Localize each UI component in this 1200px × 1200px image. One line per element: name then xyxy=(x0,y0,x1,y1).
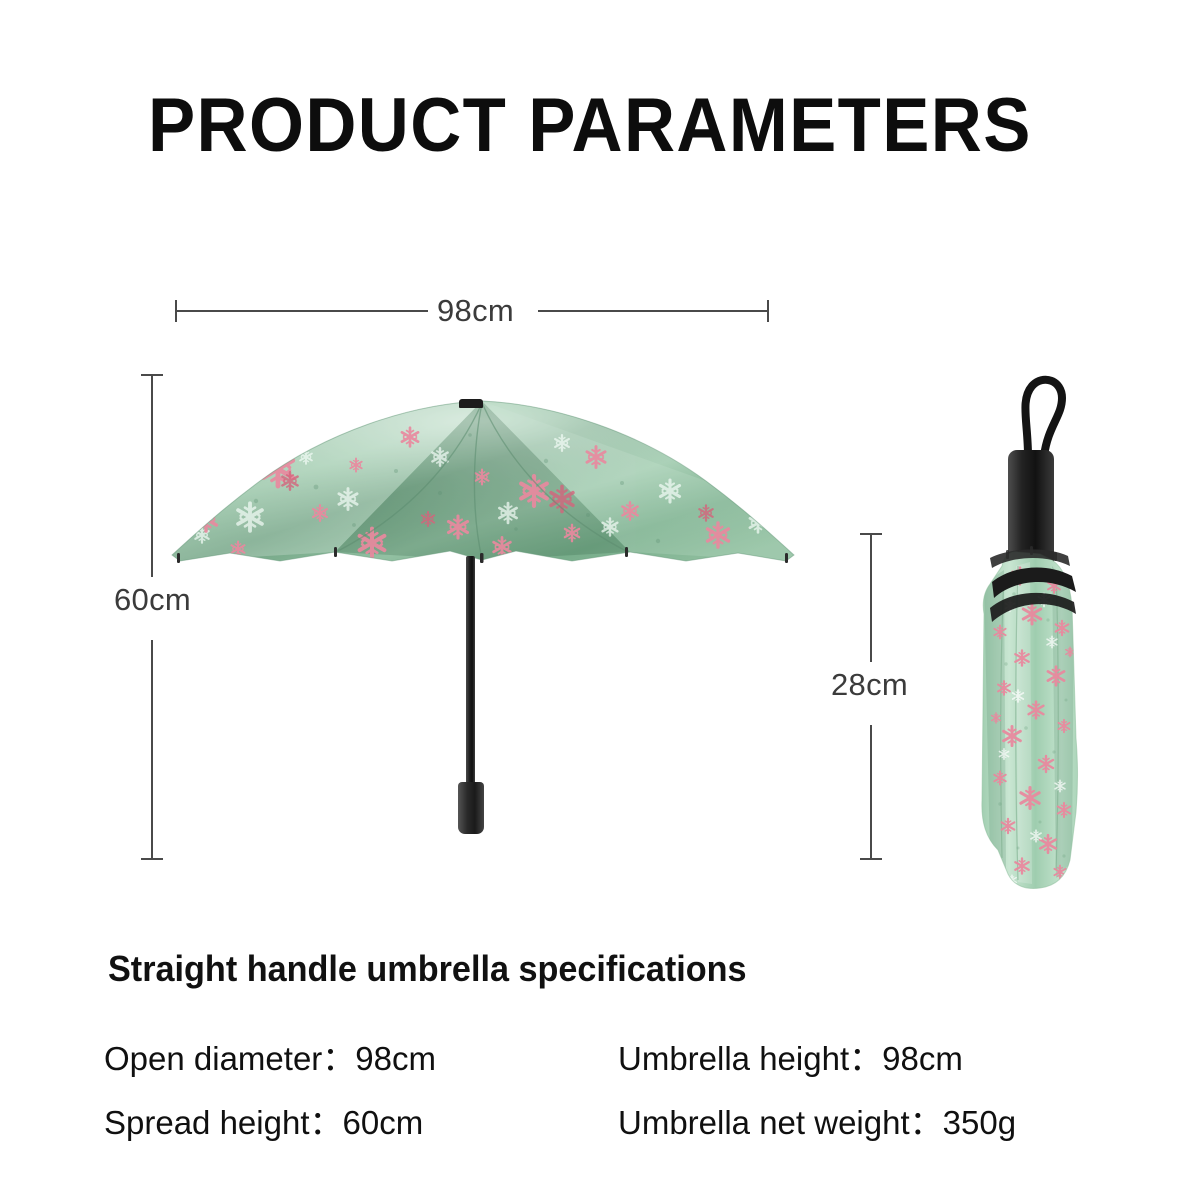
width-dimension-line-left xyxy=(176,310,428,312)
spec-open-diameter: Open diameter：98cm xyxy=(104,1032,436,1080)
folded-dimension-cap-bottom xyxy=(860,858,882,860)
page-title: PRODUCT PARAMETERS xyxy=(148,88,1032,164)
height-dimension-line-bottom xyxy=(151,640,153,860)
folded-dimension-label: 28cm xyxy=(831,667,908,703)
height-dimension-cap-bottom xyxy=(141,858,163,860)
width-dimension-line-right xyxy=(538,310,768,312)
folded-dimension-line-top xyxy=(870,534,872,662)
width-dimension-cap-right xyxy=(767,300,769,322)
umbrella-shaft xyxy=(466,556,475,790)
spec-umbrella-height: Umbrella height：98cm xyxy=(618,1032,963,1080)
open-umbrella-canopy xyxy=(110,395,855,570)
umbrella-finial xyxy=(459,399,483,408)
spec-spread-height: Spread height：60cm xyxy=(104,1096,423,1144)
height-dimension-label: 60cm xyxy=(114,582,191,618)
folded-umbrella-body xyxy=(960,370,1105,895)
spec-net-weight: Umbrella net weight：350g xyxy=(618,1096,1016,1144)
folded-dimension-line-bottom xyxy=(870,725,872,860)
width-dimension-label: 98cm xyxy=(437,293,514,329)
spec-heading: Straight handle umbrella specifications xyxy=(108,948,747,990)
umbrella-handle-grip xyxy=(458,782,484,834)
